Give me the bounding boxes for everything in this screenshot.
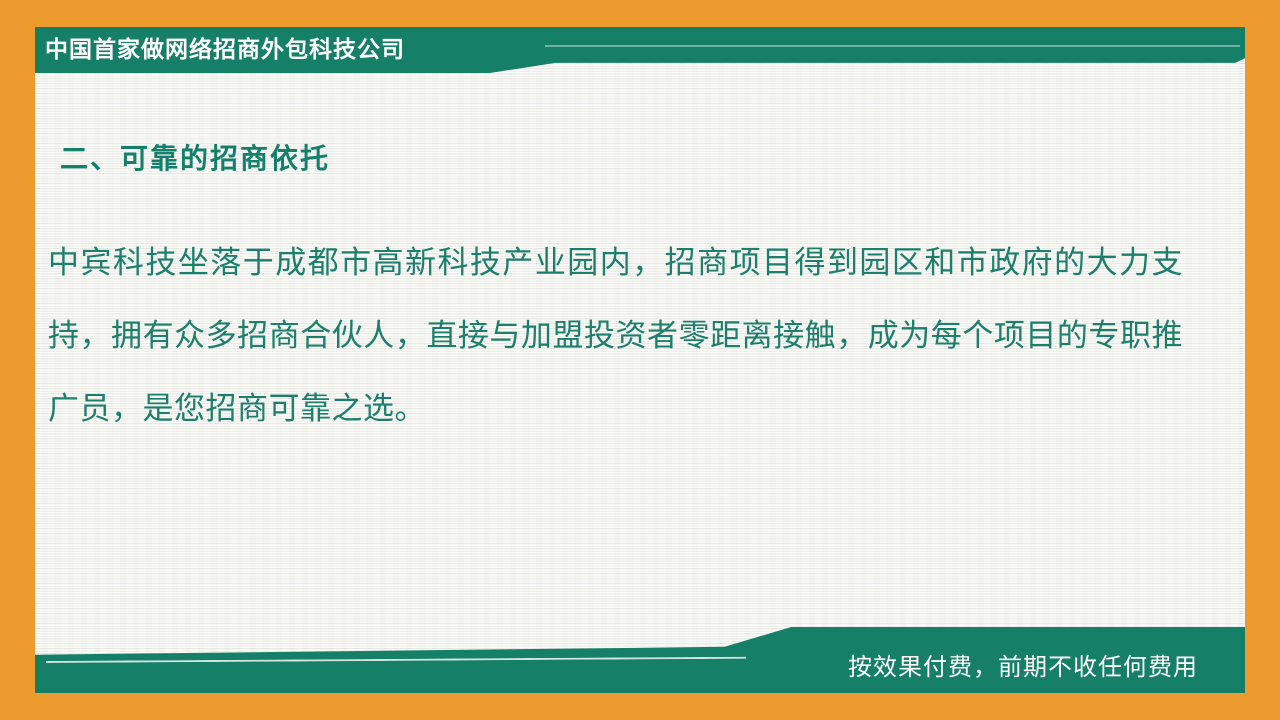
- section-heading: 二、可靠的招商依托: [60, 137, 330, 177]
- body-paragraph: 中宾科技坐落于成都市高新科技产业园内，招商项目得到园区和市政府的大力支持，拥有众…: [48, 226, 1183, 445]
- company-tagline-title: 中国首家做网络招商外包科技公司: [45, 33, 405, 65]
- presentation-slide: 中国首家做网络招商外包科技公司 二、可靠的招商依托 中宾科技坐落于成都市高新科技…: [0, 0, 1280, 720]
- footer-tagline: 按效果付费，前期不收任何费用: [848, 647, 1198, 682]
- header-divider-rule: [545, 45, 1240, 47]
